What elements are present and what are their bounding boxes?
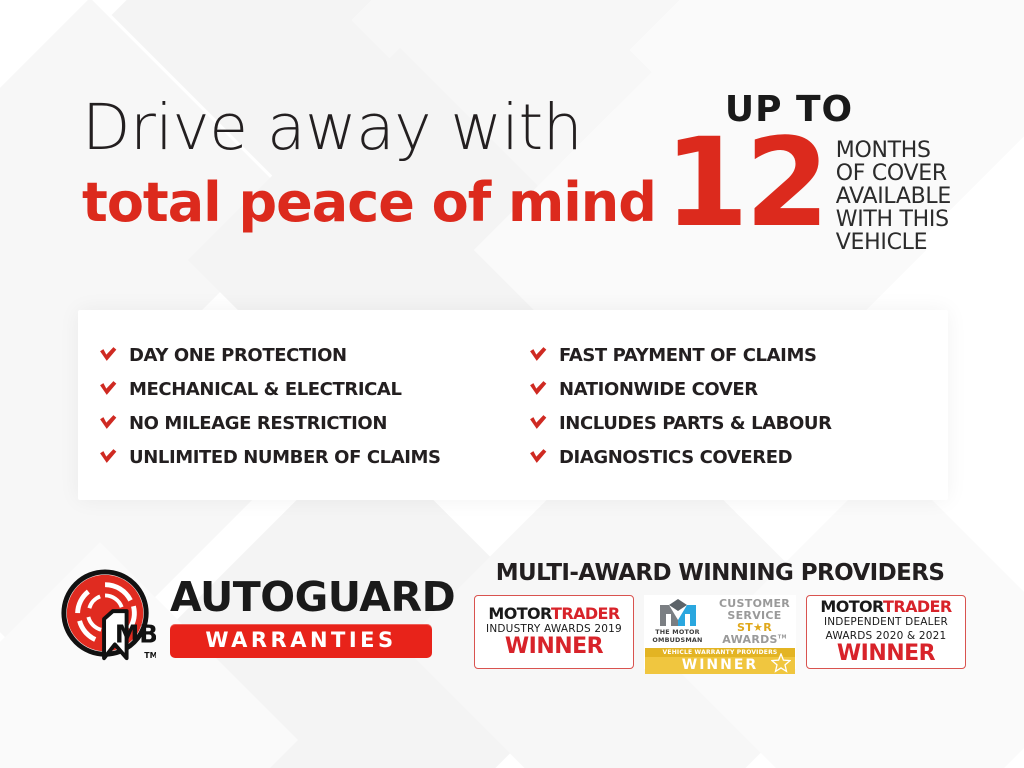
winner-ribbon: VEHICLE WARRANTY PROVIDERS WINNER	[645, 648, 795, 675]
ribbon-winner-text: WINNER	[682, 657, 758, 673]
check-icon	[528, 345, 548, 365]
headline-primary: Drive away with	[82, 96, 682, 159]
award-title: MOTORTRADER	[820, 599, 951, 615]
ombudsman-name-line2: OMBUDSMAN	[652, 636, 702, 644]
cover-detail-line: WITH THIS	[836, 209, 951, 232]
star-awards-tm: TM	[778, 634, 787, 640]
feature-label: DIAGNOSTICS COVERED	[559, 447, 792, 468]
ombudsman-name: THE MOTOR OMBUDSMAN	[647, 628, 709, 644]
autoguard-lockup: AUTOGUARD WARRANTIES	[170, 577, 432, 658]
headline-block: Drive away with total peace of mind	[82, 96, 682, 232]
awards-block: MULTI-AWARD WINNING PROVIDERS MOTORTRADE…	[470, 562, 970, 669]
ombudsman-name-line1: THE MOTOR	[655, 628, 700, 636]
feature-item: INCLUDES PARTS & LABOUR	[528, 406, 938, 440]
mbi-roundel-logo: MBi TM	[58, 568, 156, 666]
feature-item: UNLIMITED NUMBER OF CLAIMS	[98, 440, 528, 474]
check-icon	[528, 379, 548, 399]
months-row: 12 MONTHS OF COVER AVAILABLE WITH THIS V…	[664, 132, 964, 254]
cover-detail-line: MONTHS	[836, 140, 951, 163]
trademark-symbol: TM	[144, 651, 156, 660]
cover-detail-text: MONTHS OF COVER AVAILABLE WITH THIS VEHI…	[836, 140, 951, 254]
check-icon	[98, 379, 118, 399]
ombudsman-m-icon	[658, 598, 698, 626]
motor-ombudsman-logo: THE MOTOR OMBUDSMAN	[647, 598, 709, 644]
feature-label: UNLIMITED NUMBER OF CLAIMS	[129, 447, 441, 468]
features-list: DAY ONE PROTECTION FAST PAYMENT OF CLAIM…	[98, 338, 938, 474]
check-icon	[98, 413, 118, 433]
award-title-red: TRADER	[883, 597, 952, 616]
customer-service-star-awards-logo: CUSTOMER SERVICE ST★R AWARDSTM	[716, 598, 794, 646]
cover-months-number: 12	[664, 132, 826, 236]
feature-label: INCLUDES PARTS & LABOUR	[559, 413, 832, 434]
feature-label: NO MILEAGE RESTRICTION	[129, 413, 387, 434]
brand-tagline: WARRANTIES	[170, 630, 432, 651]
feature-label: DAY ONE PROTECTION	[129, 345, 347, 366]
award-winner-label: WINNER	[837, 643, 935, 665]
feature-item: DIAGNOSTICS COVERED	[528, 440, 938, 474]
award-badge-customer-service-star: THE MOTOR OMBUDSMAN CUSTOMER SERVICE ST★…	[644, 595, 796, 669]
award-title: MOTORTRADER	[488, 606, 619, 622]
star-awards-word: AWARDS	[722, 633, 778, 646]
award-subtitle: INDEPENDENT DEALER	[824, 617, 948, 629]
awards-heading: MULTI-AWARD WINNING PROVIDERS	[470, 562, 970, 585]
promotional-banner: Drive away with total peace of mind UP T…	[0, 0, 1024, 768]
feature-item: DAY ONE PROTECTION	[98, 338, 528, 372]
awards-row: MOTORTRADER INDUSTRY AWARDS 2019 WINNER	[470, 595, 970, 669]
mbi-wordmark: MBi	[115, 619, 156, 648]
feature-label: NATIONWIDE COVER	[559, 379, 758, 400]
feature-label: MECHANICAL & ELECTRICAL	[129, 379, 402, 400]
brand-name: AUTOGUARD	[170, 577, 432, 618]
cover-detail-line: OF COVER	[836, 163, 951, 186]
feature-item: NATIONWIDE COVER	[528, 372, 938, 406]
headline-secondary: total peace of mind	[82, 175, 682, 232]
award-badge-motortrader-2020-2021: MOTORTRADER INDEPENDENT DEALER AWARDS 20…	[806, 595, 966, 669]
award-badge-motortrader-2019: MOTORTRADER INDUSTRY AWARDS 2019 WINNER	[474, 595, 634, 669]
check-icon	[528, 413, 548, 433]
cover-duration-block: UP TO 12 MONTHS OF COVER AVAILABLE WITH …	[664, 92, 964, 254]
cover-detail-line: AVAILABLE	[836, 186, 951, 209]
feature-item: FAST PAYMENT OF CLAIMS	[528, 338, 938, 372]
award-title-dark: MOTOR	[820, 597, 883, 616]
check-icon	[528, 447, 548, 467]
ribbon-winner-label: WINNER	[645, 657, 795, 675]
check-icon	[98, 345, 118, 365]
feature-label: FAST PAYMENT OF CLAIMS	[559, 345, 817, 366]
feature-item: MECHANICAL & ELECTRICAL	[98, 372, 528, 406]
ombudsman-star-row: THE MOTOR OMBUDSMAN CUSTOMER SERVICE ST★…	[647, 598, 794, 646]
award-winner-label: WINNER	[505, 636, 603, 658]
star-awards-line: AWARDSTM	[716, 634, 794, 646]
brand-lockup: MBi TM AUTOGUARD WARRANTIES	[58, 568, 432, 666]
check-icon	[98, 447, 118, 467]
award-title-dark: MOTOR	[488, 604, 551, 623]
award-title-red: TRADER	[551, 604, 620, 623]
star-awards-line: SERVICE	[716, 610, 794, 622]
cover-detail-line: VEHICLE	[836, 232, 951, 255]
star-icon	[771, 653, 791, 673]
feature-item: NO MILEAGE RESTRICTION	[98, 406, 528, 440]
warranties-bar: WARRANTIES	[170, 624, 432, 658]
